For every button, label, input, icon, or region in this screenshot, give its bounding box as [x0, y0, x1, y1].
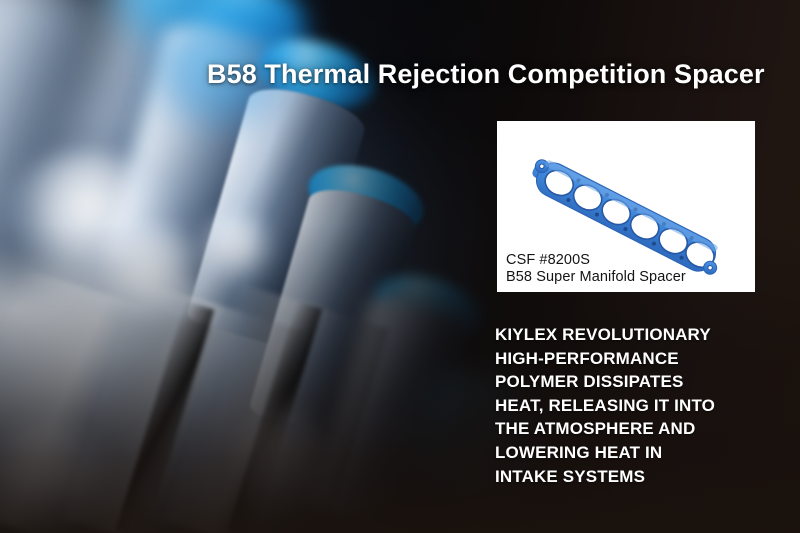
promotional-banner: B58 Thermal Rejection Competition Spacer [0, 0, 800, 533]
body-copy-line: KIYLEX REVOLUTIONARY [495, 323, 755, 347]
product-card: CSF #8200S B58 Super Manifold Spacer [497, 121, 755, 292]
body-copy-line: THE ATMOSPHERE AND [495, 417, 755, 441]
body-copy-line: LOWERING HEAT IN [495, 441, 755, 465]
product-caption: CSF #8200S B58 Super Manifold Spacer [506, 252, 686, 286]
body-copy: KIYLEX REVOLUTIONARY HIGH-PERFORMANCE PO… [495, 323, 755, 488]
page-title: B58 Thermal Rejection Competition Spacer [207, 59, 765, 90]
body-copy-line: POLYMER DISSIPATES [495, 370, 755, 394]
body-copy-line: INTAKE SYSTEMS [495, 465, 755, 489]
body-copy-line: HIGH-PERFORMANCE [495, 347, 755, 371]
body-copy-line: HEAT, RELEASING IT INTO [495, 394, 755, 418]
product-name: B58 Super Manifold Spacer [506, 269, 686, 286]
product-part-number: CSF #8200S [506, 252, 686, 269]
